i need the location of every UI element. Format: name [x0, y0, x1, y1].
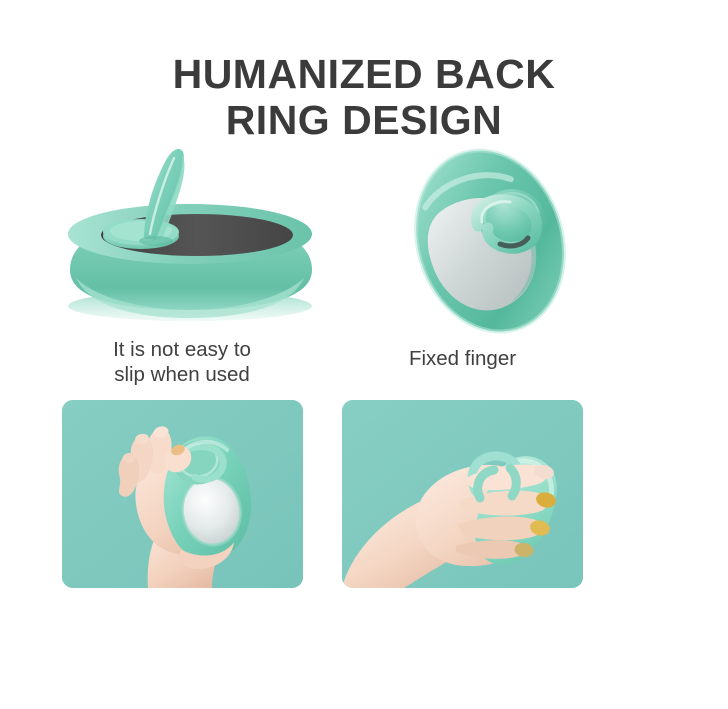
side-view-device-illustration — [40, 146, 340, 336]
caption-not-easy-to-slip: It is not easy to slip when used — [62, 337, 302, 388]
hand-holding-device-photo — [62, 400, 303, 588]
title-line-1: HUMANIZED BACK — [0, 52, 728, 98]
caption-right-line-1: Fixed finger — [342, 346, 583, 371]
photo-finger-through-ring — [342, 400, 583, 588]
product-renders-row — [0, 146, 728, 336]
caption-left-line-2: slip when used — [62, 362, 302, 387]
finger-through-ring-photo — [342, 400, 583, 588]
caption-fixed-finger: Fixed finger — [342, 346, 583, 371]
render-side-view-device — [40, 146, 340, 336]
page-title: HUMANIZED BACK RING DESIGN — [0, 52, 728, 144]
title-line-2: RING DESIGN — [0, 98, 728, 144]
photo-hand-holding-device — [62, 400, 303, 588]
product-infographic: HUMANIZED BACK RING DESIGN — [0, 0, 728, 709]
render-back-view-device — [360, 146, 620, 336]
caption-left-line-1: It is not easy to — [62, 337, 302, 362]
back-view-device-illustration — [360, 146, 620, 336]
